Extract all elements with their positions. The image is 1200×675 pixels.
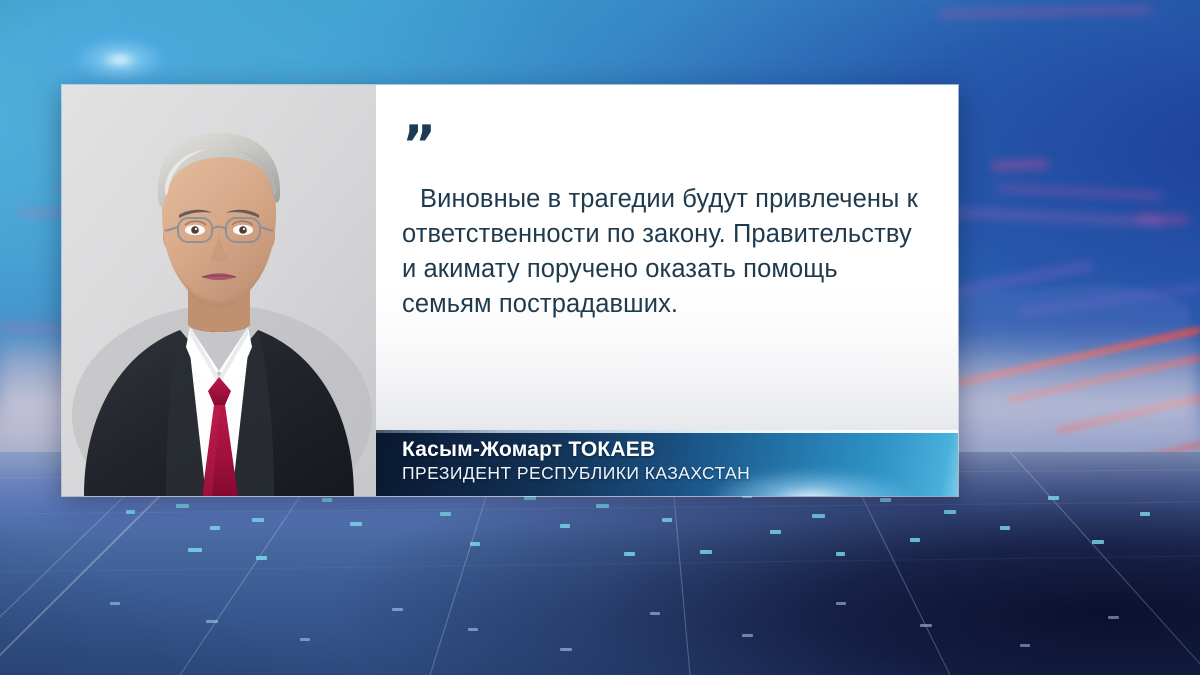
quote-mark-icon: ” [402,130,928,164]
quote-card: ” Виновные в трагедии будут привлечены к… [62,85,958,496]
quote-panel: ” Виновные в трагедии будут привлечены к… [376,85,958,430]
quote-text: Виновные в трагедии будут привлечены к о… [402,182,928,322]
speaker-name: Касым-Жомарт ТОКАЕВ [402,438,958,461]
speaker-role: ПРЕЗИДЕНТ РЕСПУБЛИКИ КАЗАХСТАН [402,463,958,485]
attribution-bar: Касым-Жомарт ТОКАЕВ ПРЕЗИДЕНТ РЕСПУБЛИКИ… [376,430,958,496]
quote-card-screenshot: ” Виновные в трагедии будут привлечены к… [0,0,1200,675]
portrait-photo [62,85,376,496]
